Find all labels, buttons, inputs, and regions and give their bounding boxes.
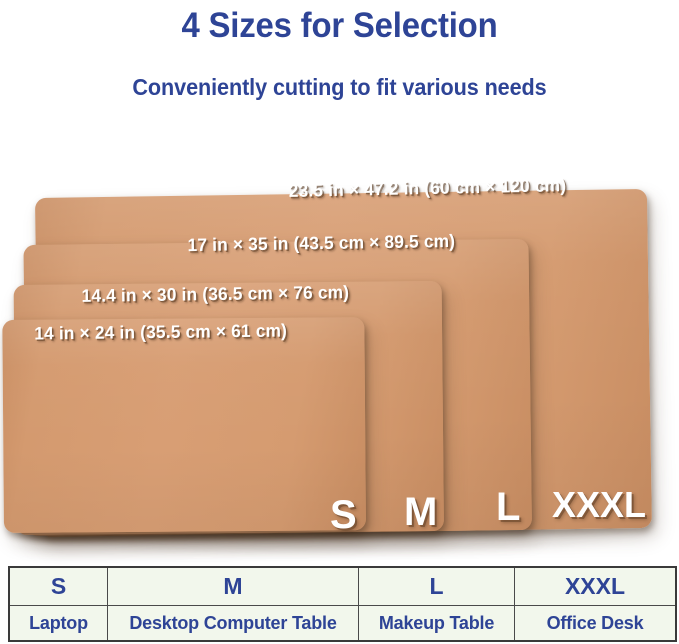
table-cell-size-m: M: [108, 567, 359, 606]
table-cell-use-l: Makeup Table: [359, 606, 515, 642]
table-cell-use-m: Desktop Computer Table: [108, 606, 359, 642]
dimension-label-l: 17 in × 35 in (43.5 cm × 89.5 cm): [187, 231, 455, 256]
table-row-uses: Laptop Desktop Computer Table Makeup Tab…: [9, 606, 676, 642]
table-cell-size-xxxl: XXXL: [515, 567, 677, 606]
table-cell-use-s: Laptop: [9, 606, 108, 642]
table-row-sizes: S M L XXXL: [9, 567, 676, 606]
size-usage-table-wrapper: S M L XXXL Laptop Desktop Computer Table…: [8, 566, 670, 642]
mat-stack-illustration: 23.5 in × 47.2 in (60 cm × 120 cm) 17 in…: [0, 0, 679, 570]
dimension-label-s: 14 in × 24 in (35.5 cm × 61 cm): [34, 320, 287, 344]
table-cell-use-xxxl: Office Desk: [515, 606, 677, 642]
table-cell-size-l: L: [359, 567, 515, 606]
table-cell-size-s: S: [9, 567, 108, 606]
size-letter-l: L: [496, 487, 520, 527]
mat-s: [2, 317, 366, 533]
dimension-label-m: 14.4 in × 30 in (36.5 cm × 76 cm): [81, 282, 349, 307]
size-letter-xxxl: XXXL: [552, 487, 646, 523]
size-comparison-infographic: 4 Sizes for Selection Conveniently cutti…: [0, 0, 679, 644]
size-letter-s: S: [330, 495, 357, 535]
size-usage-table: S M L XXXL Laptop Desktop Computer Table…: [8, 566, 677, 642]
size-letter-m: M: [404, 492, 437, 532]
